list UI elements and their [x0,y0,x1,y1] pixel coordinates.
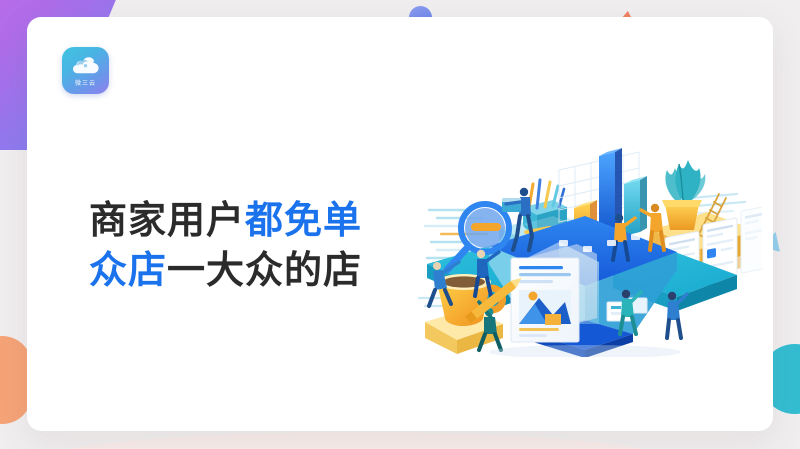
isometric-business-platform-illustration [407,112,762,357]
bottom-shadow-arc [36,432,676,449]
brand-logo[interactable]: 微三云 [62,47,109,94]
headline-line-1: 商家用户都免单 [89,195,362,245]
content-card: 微三云 商家用户都免单 众店一大众的店 [27,17,773,431]
cloud-logo-icon [69,56,102,77]
headline-line2-dark: 一大众的店 [167,248,362,292]
headline-line-2: 众店一大众的店 [89,245,362,295]
headline-line2-blue: 众店 [89,248,167,292]
headline-line1-dark: 商家用户 [89,198,245,242]
headline-line1-blue: 都免单 [245,198,362,242]
page-title: 商家用户都免单 众店一大众的店 [89,195,362,295]
brand-logo-text: 微三云 [75,78,96,87]
ground-shadow [489,345,681,357]
poster-canvas: 微三云 商家用户都免单 众店一大众的店 [0,0,800,449]
